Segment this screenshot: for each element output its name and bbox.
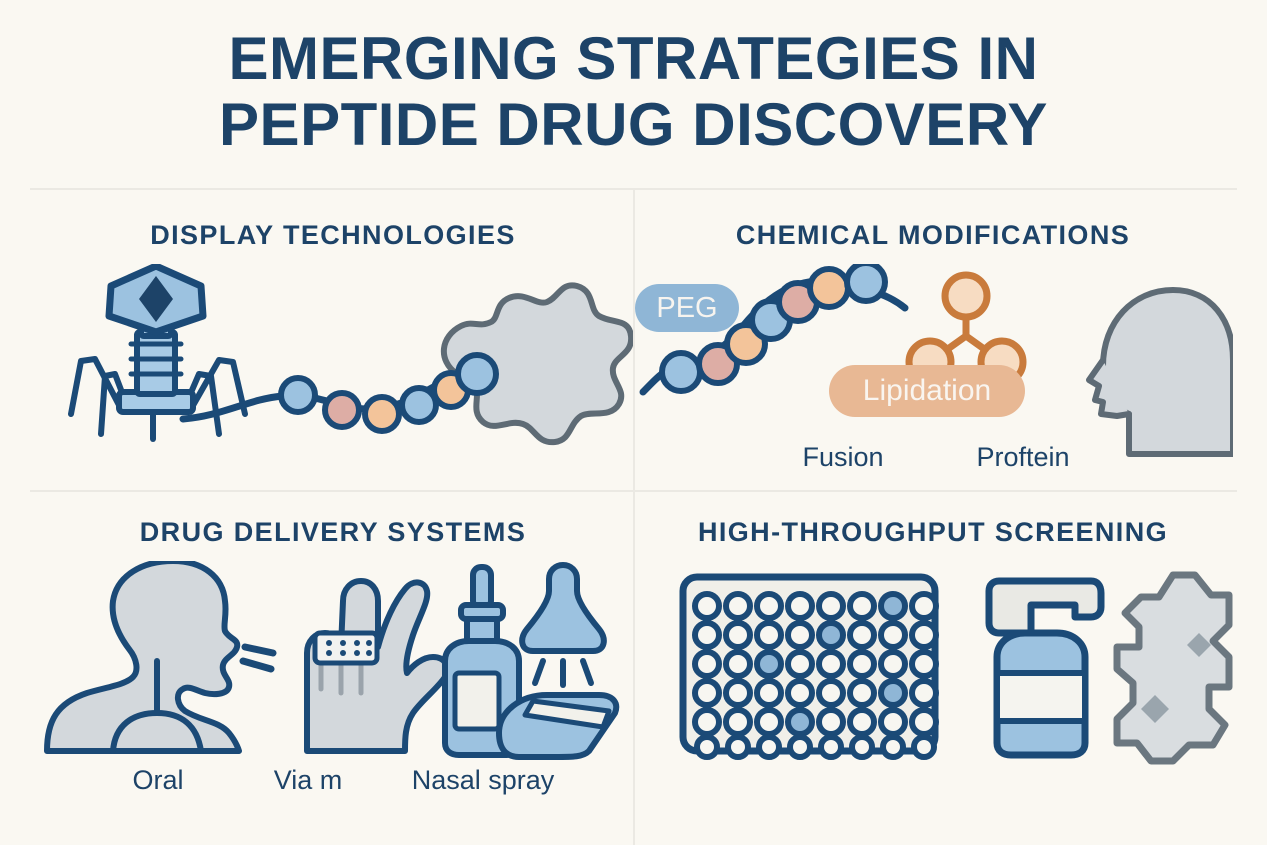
quadrant-chemical-modifications: CHEMICAL MODIFICATIONS — [633, 220, 1233, 520]
heading-drug-delivery-systems: DRUG DELIVERY SYSTEMS — [33, 517, 633, 548]
high-throughput-artwork — [633, 561, 1233, 771]
oral-head-icon — [47, 561, 273, 751]
title-line-1: EMERGING STRATEGIES IN — [0, 26, 1267, 92]
quadrant-drug-delivery-systems: DRUG DELIVERY SYSTEMS — [33, 517, 633, 845]
lipidation-badge-label: Lipidation — [863, 374, 991, 407]
title-line-2: PEPTIDE DRUG DISCOVERY — [0, 92, 1267, 158]
caption-nasal-spray: Nasal spray — [373, 765, 593, 796]
drug-delivery-artwork — [33, 561, 633, 771]
spray-nozzle-icon — [522, 565, 604, 685]
microneedle-patch-hand-icon — [307, 581, 447, 751]
peg-badge-label: PEG — [656, 292, 717, 324]
quadrant-display-technologies: DISPLAY TECHNOLOGIES — [33, 220, 633, 520]
lipidation-badge[interactable]: Lipidation — [829, 365, 1025, 417]
molecule-shape-icon — [1117, 575, 1229, 761]
chemical-modifications-captions: Fusion Proftein — [633, 442, 1233, 473]
caption-oral: Oral — [73, 765, 243, 796]
caption-protein: Proftein — [933, 442, 1113, 473]
caption-fusion: Fusion — [753, 442, 933, 473]
infographic-canvas: EMERGING STRATEGIES IN PEPTIDE DRUG DISC… — [0, 0, 1267, 845]
peg-badge[interactable]: PEG — [635, 284, 739, 332]
quadrant-high-throughput-screening: HIGH-THROUGHPUT SCREENING — [633, 517, 1233, 845]
bacteriophage-icon — [71, 266, 245, 439]
caption-via-m: Via m — [243, 765, 373, 796]
head-silhouette-icon — [1089, 290, 1233, 454]
microplate-icon — [683, 577, 936, 757]
heading-chemical-modifications: CHEMICAL MODIFICATIONS — [633, 220, 1233, 251]
page-title: EMERGING STRATEGIES IN PEPTIDE DRUG DISC… — [0, 26, 1267, 158]
display-technologies-artwork — [33, 264, 633, 474]
inhaler-icon — [499, 695, 616, 757]
heading-high-throughput-screening: HIGH-THROUGHPUT SCREENING — [633, 517, 1233, 548]
heading-display-technologies: DISPLAY TECHNOLOGIES — [33, 220, 633, 251]
drug-delivery-captions: Oral Via m Nasal spray — [33, 765, 633, 796]
pump-dispenser-icon — [989, 581, 1101, 755]
